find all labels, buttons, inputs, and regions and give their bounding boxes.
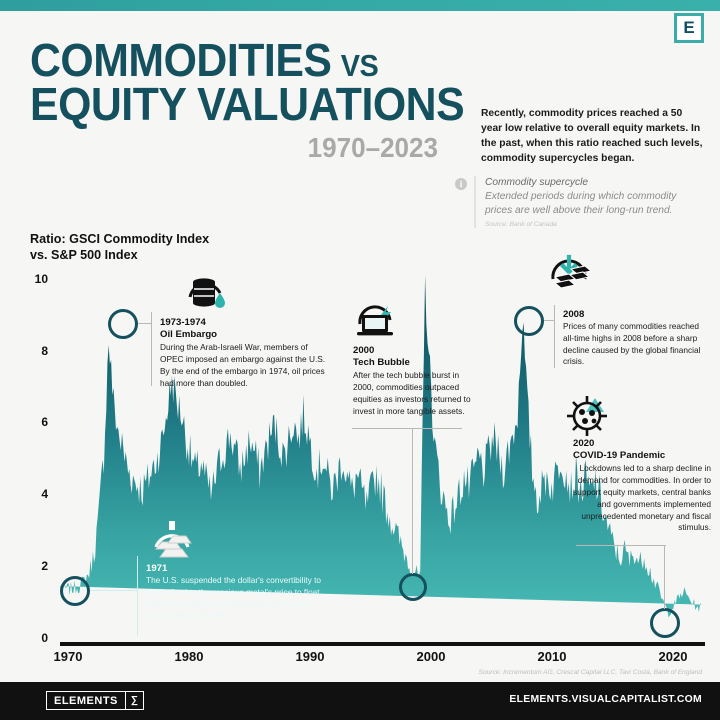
cash-stack-icon	[547, 253, 593, 297]
footer-elements-logo[interactable]: ELEMENTS ∑	[46, 691, 144, 710]
y-tick-4: 4	[22, 487, 48, 501]
annotation-2008: 2008 Prices of many commodities reached …	[563, 309, 711, 368]
title-line-1: COMMODITIESVS	[30, 38, 430, 82]
virus-icon	[563, 392, 619, 438]
top-accent-bar	[0, 0, 720, 11]
x-tick-2000: 2000	[417, 649, 446, 664]
footer-logo-mark: ∑	[125, 692, 143, 709]
chart-axis-title: Ratio: GSCI Commodity Index vs. S&P 500 …	[30, 231, 209, 263]
oil-barrel-icon	[182, 273, 230, 315]
marker-ring-1973[interactable]	[108, 309, 138, 339]
annotation-1971-year: 1971	[146, 563, 341, 575]
laptop-icon	[354, 302, 400, 342]
y-tick-0: 0	[22, 631, 48, 645]
page-footer: ELEMENTS ∑ ELEMENTS.VISUALCAPITALIST.COM	[0, 682, 720, 720]
leader-line-1973	[138, 323, 151, 324]
definition-callout: i Commodity supercycle Extended periods …	[455, 176, 705, 228]
footer-website-url[interactable]: ELEMENTS.VISUALCAPITALIST.COM	[509, 694, 702, 705]
intro-paragraph: Recently, commodity prices reached a 50 …	[481, 106, 703, 166]
marker-ring-2020[interactable]	[650, 608, 680, 638]
annotation-2020-title: COVID-19 Pandemic	[573, 450, 711, 462]
definition-description: Extended periods during which commodity …	[485, 190, 705, 219]
annotation-2020: 2020 COVID-19 Pandemic Lockdowns led to …	[573, 438, 711, 534]
annotation-1973-year: 1973-1974	[160, 317, 330, 329]
footer-logo-text: ELEMENTS	[47, 692, 125, 709]
bracket-2008	[554, 305, 555, 368]
annotation-2008-body: Prices of many commodities reached all-t…	[563, 321, 711, 368]
page-title: COMMODITIESVS EQUITY VALUATIONS 1970–202…	[30, 38, 460, 164]
x-axis-line	[60, 642, 705, 646]
y-tick-8: 8	[22, 344, 48, 358]
x-tick-2010: 2010	[538, 649, 567, 664]
infographic-page: E COMMODITIESVS EQUITY VALUATIONS 1970–2…	[0, 0, 720, 720]
annotation-2000-year: 2000	[353, 345, 481, 357]
annotation-2000: 2000 Tech Bubble After the tech bubble b…	[353, 345, 481, 418]
marker-ring-2008[interactable]	[514, 306, 544, 336]
annotation-1971: 1971 The U.S. suspended the dollar's con…	[146, 563, 341, 622]
bracket-2000	[352, 428, 462, 429]
title-line-2: EQUITY VALUATIONS	[30, 82, 430, 126]
annotation-1973-body: During the Arab-Israeli War, members of …	[160, 342, 330, 389]
bracket-1971	[137, 556, 138, 636]
annotation-1973: 1973-1974 Oil Embargo During the Arab-Is…	[160, 317, 330, 390]
gold-bars-icon	[146, 519, 198, 565]
bracket-2020	[576, 545, 666, 546]
y-tick-2: 2	[22, 559, 48, 573]
leader-line-2008	[544, 320, 554, 321]
x-tick-2020: 2020	[659, 649, 688, 664]
y-tick-10: 10	[22, 272, 48, 286]
annotation-1971-body: The U.S. suspended the dollar's converti…	[146, 575, 341, 622]
chart-source-note: Source: Incrementum AG, Crescat Capital …	[479, 669, 702, 676]
leader-line-2000	[412, 428, 413, 574]
axis-title-line-1: Ratio: GSCI Commodity Index	[30, 231, 209, 247]
leader-line-1971	[90, 590, 137, 591]
y-tick-6: 6	[22, 415, 48, 429]
marker-ring-2000[interactable]	[399, 573, 427, 601]
definition-body: Commodity supercycle Extended periods du…	[474, 176, 705, 228]
annotation-2020-body: Lockdowns led to a sharp decline in dema…	[573, 463, 711, 534]
x-tick-1980: 1980	[175, 649, 204, 664]
annotation-2000-title: Tech Bubble	[353, 357, 481, 369]
definition-term: Commodity supercycle	[485, 176, 705, 190]
definition-source: Source: Bank of Canada	[485, 221, 705, 228]
axis-title-line-2: vs. S&P 500 Index	[30, 247, 209, 263]
annotation-2000-body: After the tech bubble burst in 2000, com…	[353, 370, 481, 417]
x-tick-1990: 1990	[296, 649, 325, 664]
title-subtitle: 1970–2023	[59, 132, 438, 164]
x-tick-1970: 1970	[54, 649, 83, 664]
annotation-2020-year: 2020	[573, 438, 711, 450]
elements-logo-mark: E	[674, 13, 704, 43]
leader-line-2020	[664, 546, 665, 609]
info-icon: i	[455, 178, 467, 190]
bracket-1973	[151, 312, 152, 386]
annotation-2008-year: 2008	[563, 309, 711, 321]
annotation-1973-title: Oil Embargo	[160, 329, 330, 341]
marker-ring-1971[interactable]	[60, 576, 90, 606]
